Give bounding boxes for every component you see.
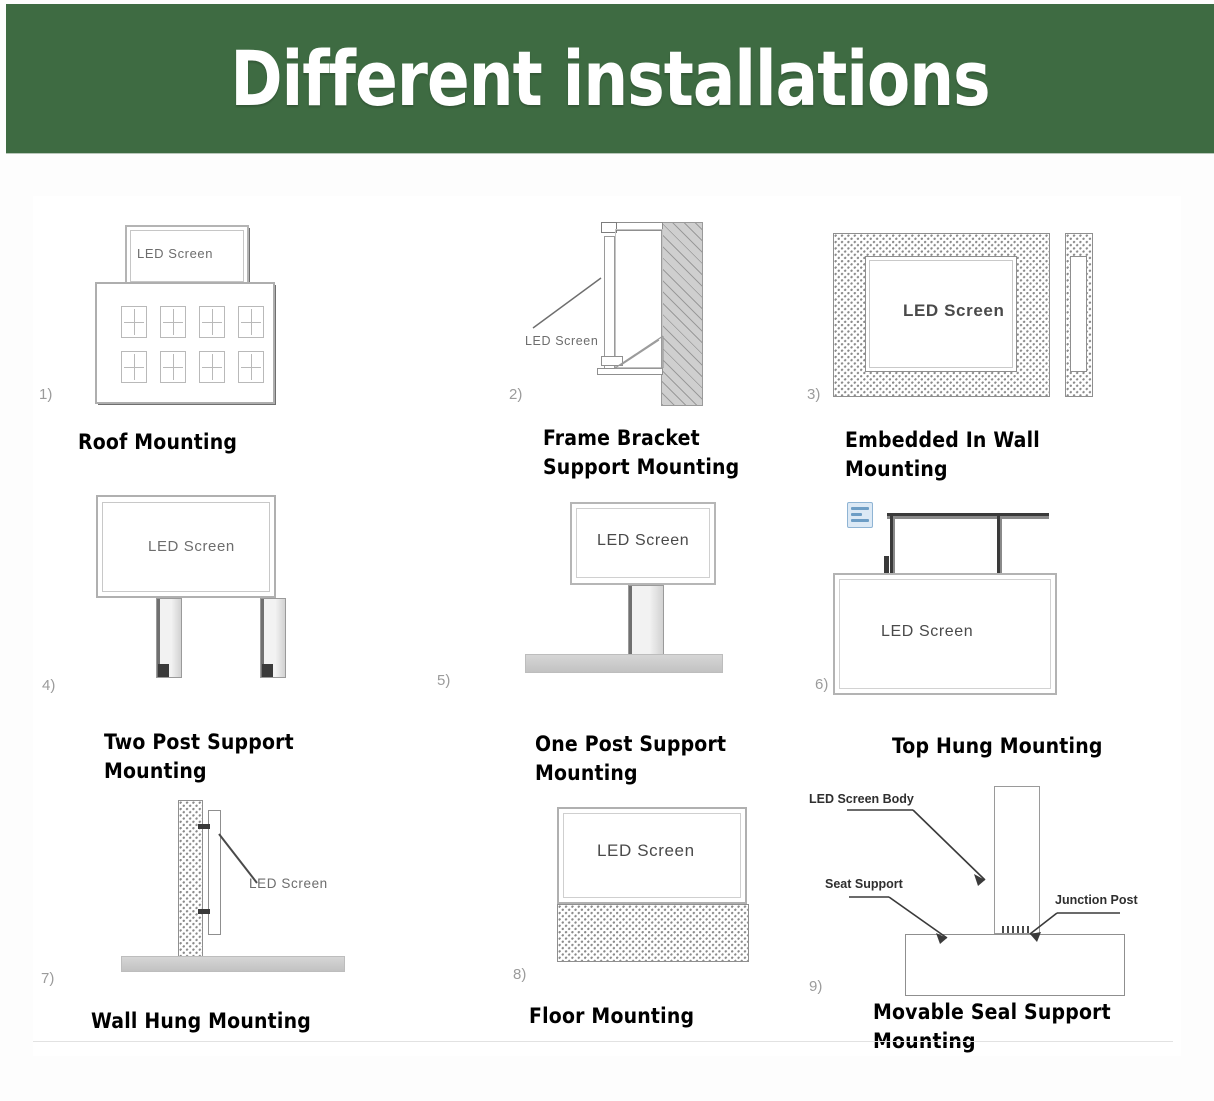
header-bar: Different installations [6, 4, 1214, 153]
installation-item-two-post-support-mounting[interactable]: LED Screen 4) Two Post Support Mounting [33, 480, 415, 780]
one-post-billboard-icon: LED Screen [415, 480, 797, 710]
item-caption: Two Post Support Mounting [104, 728, 294, 786]
annotation-junction-post: Junction Post [1055, 893, 1138, 907]
item-index: 7) [41, 970, 54, 987]
screen-label: LED Screen [881, 623, 973, 641]
embedded-wall-front-and-side-icon: LED Screen [797, 196, 1181, 416]
item-index: 9) [809, 978, 822, 995]
installation-item-one-post-support-mounting[interactable]: LED Screen 5) One Post Support Mounting [415, 480, 797, 780]
installation-grid: LED Screen 1) Roof Mounting [33, 196, 1181, 1056]
diagram-card: LED Screen 1) Roof Mounting [33, 196, 1181, 1056]
item-caption: Embedded In Wall Mounting [845, 426, 1040, 484]
movable-seal-support-icon: LED Screen Body Seat Support Junctio [797, 780, 1181, 998]
broken-image-placeholder-icon [847, 502, 873, 528]
two-post-billboard-icon: LED Screen [33, 480, 415, 710]
item-index: 4) [42, 677, 55, 694]
item-caption: Movable Seal Support Mounting [873, 998, 1111, 1056]
installation-item-wall-hung-mounting[interactable]: LED Screen 7) Wall Hung Mounting [33, 780, 415, 1056]
top-hung-screen-icon: LED Screen [797, 480, 1181, 710]
annotation-led-screen-body: LED Screen Body [809, 792, 914, 806]
floor-mounted-screen-icon: LED Screen [415, 780, 797, 998]
page-background: Different installations LED Screen [0, 0, 1214, 1101]
screen-label: LED Screen [903, 301, 1004, 321]
installation-item-top-hung-mounting[interactable]: LED Screen 6) Top Hung Mounting [797, 480, 1181, 780]
item-caption: Wall Hung Mounting [91, 1007, 311, 1036]
screen-label: LED Screen [137, 246, 213, 261]
item-caption: Top Hung Mounting [892, 732, 1103, 761]
screen-label: LED Screen [597, 841, 695, 861]
page-title: Different installations [54, 4, 1165, 153]
screen-label: LED Screen [148, 538, 235, 555]
installation-item-floor-mounting[interactable]: LED Screen 8) Floor Mounting [415, 780, 797, 1056]
installation-item-movable-seal-support-mounting[interactable]: LED Screen Body Seat Support Junctio [797, 780, 1181, 1056]
item-index: 5) [437, 672, 450, 689]
item-index: 8) [513, 966, 526, 983]
wall-hung-side-view-icon: LED Screen [33, 780, 415, 998]
item-index: 3) [807, 386, 820, 403]
installation-item-embedded-in-wall-mounting[interactable]: LED Screen 3) Embedded In Wall Mounting [797, 196, 1181, 480]
building-with-roof-screen-icon: LED Screen [33, 196, 415, 416]
item-caption: Roof Mounting [78, 428, 237, 457]
item-index: 1) [39, 386, 52, 403]
annotation-seat-support: Seat Support [825, 877, 903, 891]
screen-label: LED Screen [597, 532, 689, 550]
footer-divider [33, 1041, 1173, 1042]
item-caption: Frame Bracket Support Mounting [543, 424, 739, 482]
item-index: 6) [815, 676, 828, 693]
item-index: 2) [509, 386, 522, 403]
screen-label: LED Screen [249, 876, 328, 891]
item-caption: Floor Mounting [529, 1002, 694, 1031]
installation-item-frame-bracket-support-mounting[interactable]: LED Screen 2) Frame Bracket Support Moun… [415, 196, 797, 480]
installation-item-roof-mounting[interactable]: LED Screen 1) Roof Mounting [33, 196, 415, 480]
wall-bracket-side-view-icon: LED Screen [415, 196, 797, 416]
screen-label: LED Screen [525, 334, 598, 348]
